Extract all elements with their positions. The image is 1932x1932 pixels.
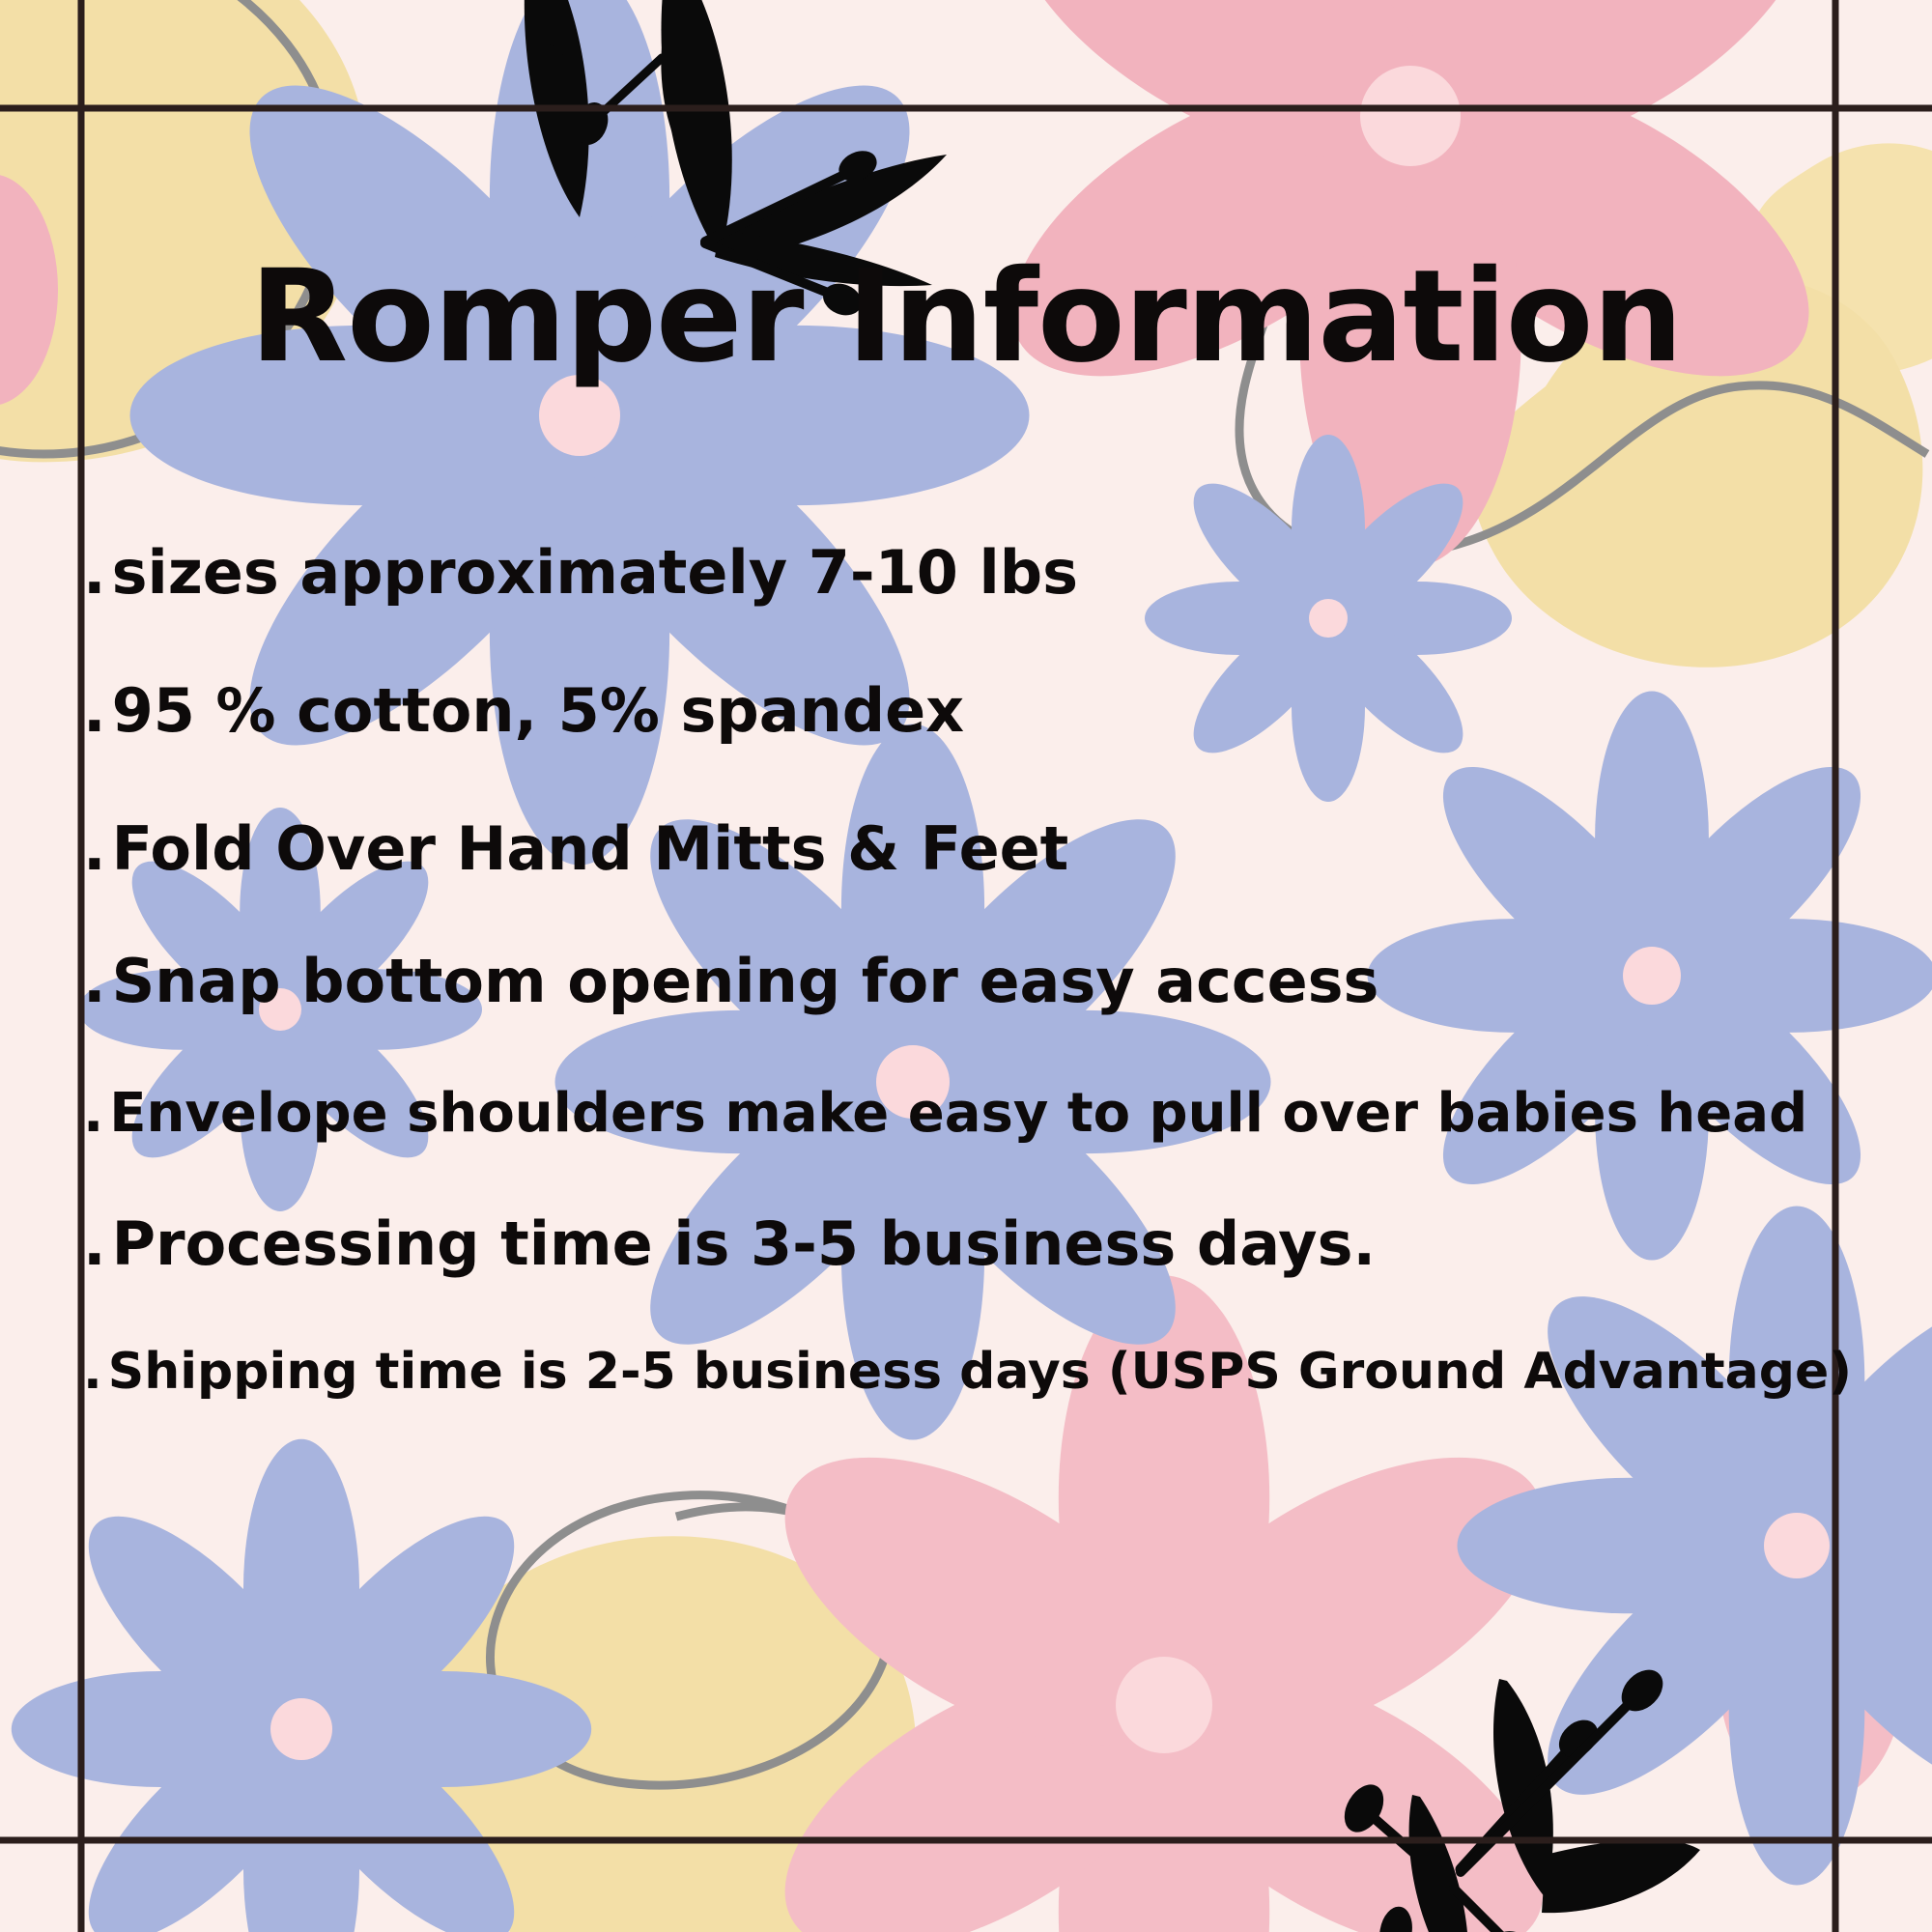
list-item-label: 95 % cotton, 5% spandex (112, 675, 965, 746)
list-item: . Snap bottom opening for easy access (83, 946, 1889, 1016)
bullet-marker: . (83, 675, 112, 746)
bullet-marker: . (83, 813, 112, 884)
bullet-marker: . (83, 1208, 112, 1279)
page-title: Romper Information (0, 253, 1932, 381)
list-item: . sizes approximately 7-10 lbs (83, 537, 1889, 608)
list-item: . Shipping time is 2-5 business days (US… (83, 1343, 1889, 1401)
list-item-label: Fold Over Hand Mitts & Feet (112, 813, 1069, 884)
list-item-label: Envelope shoulders make easy to pull ove… (109, 1082, 1807, 1145)
bullet-marker: . (83, 1343, 108, 1401)
list-item-label: Snap bottom opening for easy access (112, 946, 1379, 1016)
list-item: . Processing time is 3-5 business days. (83, 1208, 1889, 1279)
list-item: . 95 % cotton, 5% spandex (83, 675, 1889, 746)
list-item: . Envelope shoulders make easy to pull o… (83, 1082, 1889, 1145)
bullet-marker: . (83, 537, 112, 608)
list-item-label: Processing time is 3-5 business days. (112, 1208, 1376, 1279)
list-item-label: sizes approximately 7-10 lbs (112, 537, 1078, 608)
list-item-label: Shipping time is 2-5 business days (USPS… (108, 1343, 1852, 1401)
bullet-marker: . (83, 946, 112, 1016)
bullet-marker: . (83, 1082, 109, 1145)
poster-canvas: Romper Information . sizes approximately… (0, 0, 1932, 1932)
romper-info-list: . sizes approximately 7-10 lbs . 95 % co… (83, 537, 1889, 1401)
list-item: . Fold Over Hand Mitts & Feet (83, 813, 1889, 884)
